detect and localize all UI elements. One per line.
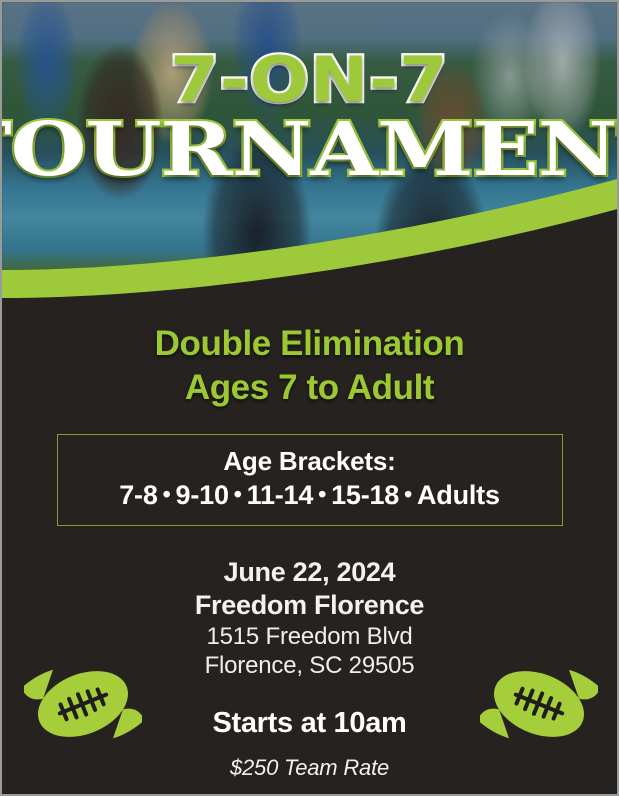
bullet-separator-3: •: [313, 480, 331, 509]
age-bracket-item-5: Adults: [417, 480, 500, 510]
age-brackets-list: 7-8•9-10•11-14•15-18•Adults: [66, 478, 554, 512]
bullet-separator-4: •: [399, 480, 417, 509]
football-icon-left: [24, 652, 142, 756]
poster-title-block: 7-ON-7 TOURNAMENT: [2, 50, 617, 185]
title-tournament: TOURNAMENT: [0, 115, 619, 185]
headline-line-2: Ages 7 to Adult: [30, 366, 589, 410]
headline-line-1: Double Elimination: [30, 322, 589, 366]
bullet-separator-2: •: [229, 480, 247, 509]
age-bracket-item-1: 7-8: [119, 480, 157, 510]
event-venue: Freedom Florence: [2, 589, 617, 622]
age-bracket-item-3: 11-14: [247, 480, 314, 510]
flyer-poster: 7-ON-7 TOURNAMENT Double Elimination Age…: [0, 0, 619, 796]
football-icon-right: [480, 652, 598, 756]
event-date: June 22, 2024: [2, 556, 617, 589]
event-address-line-1: 1515 Freedom Blvd: [2, 622, 617, 651]
bullet-separator-1: •: [158, 480, 176, 509]
age-brackets-box: Age Brackets: 7-8•9-10•11-14•15-18•Adult…: [57, 434, 563, 526]
age-bracket-item-4: 15-18: [331, 480, 399, 510]
age-bracket-item-2: 9-10: [176, 480, 229, 510]
age-brackets-label: Age Brackets:: [66, 446, 554, 478]
headline-block: Double Elimination Ages 7 to Adult: [2, 322, 617, 410]
title-7on7: 7-ON-7: [0, 50, 619, 111]
team-rate: $250 Team Rate: [2, 755, 617, 781]
